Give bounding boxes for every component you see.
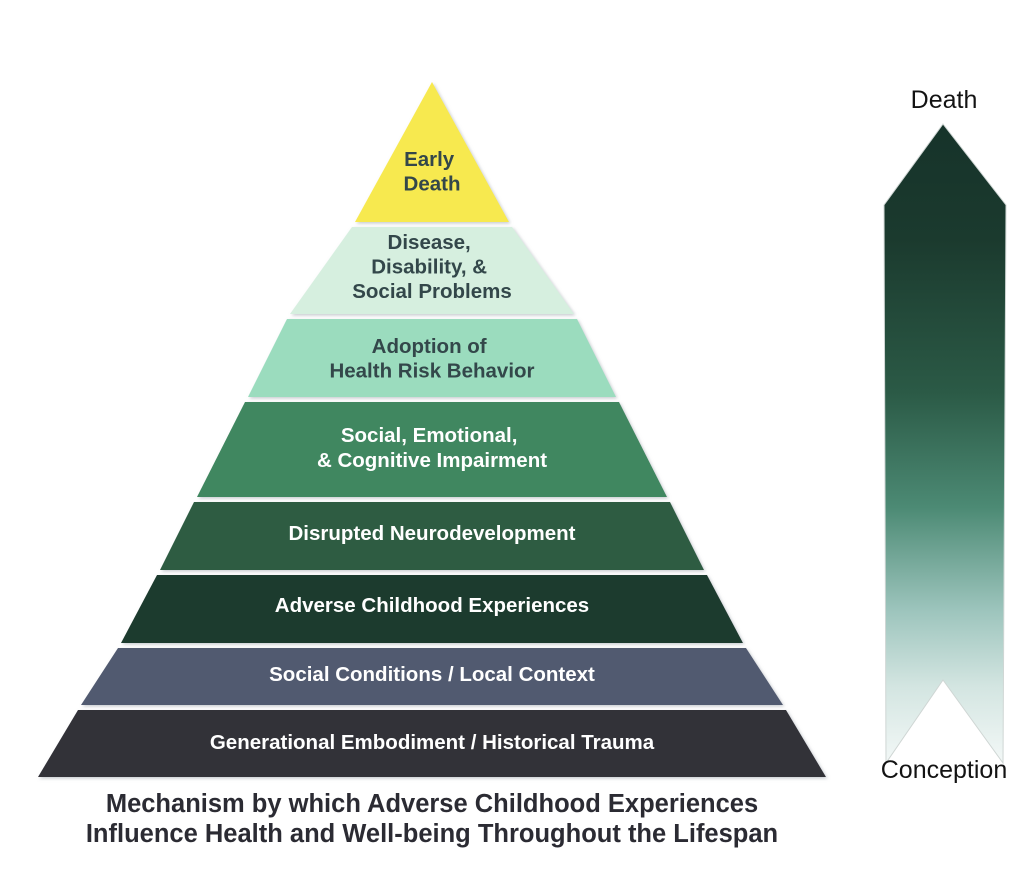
tier-line: Disrupted Neurodevelopment (288, 522, 575, 545)
tier-label-adverse-childhood-experiences: Adverse Childhood Experiences (275, 594, 589, 617)
tier-label-social-conditions-local-context: Social Conditions / Local Context (269, 663, 595, 686)
tier-line: Social, Emotional, (341, 424, 518, 447)
lifespan-arrow: Death Conception (881, 86, 1007, 784)
lifespan-arrow-bottom-label: Conception (881, 756, 1007, 784)
lifespan-arrow-shape (884, 124, 1006, 763)
tier-disrupted-neurodevelopment[interactable]: Disrupted Neurodevelopment (160, 502, 704, 570)
tier-line: Disability, & (371, 256, 487, 279)
tier-line: Adoption of (372, 335, 487, 358)
tier-label-early-death: Early Death (404, 148, 461, 196)
tier-line: Social Problems (352, 280, 512, 303)
tier-line: Disease, (388, 231, 471, 254)
ace-pyramid-figure: Early Death Disease, Disability, & Socia… (0, 0, 1024, 879)
tier-early-death[interactable]: Early Death (355, 82, 509, 222)
lifespan-arrow-top-label: Death (911, 86, 978, 114)
tier-line: Death (404, 173, 461, 196)
figure-caption: Mechanism by which Adverse Childhood Exp… (86, 790, 778, 848)
tier-adoption-of-health-risk-behavior[interactable]: Adoption of Health Risk Behavior (248, 319, 616, 397)
tier-disease-disability-social-problems[interactable]: Disease, Disability, & Social Problems (290, 227, 574, 314)
tier-social-conditions-local-context[interactable]: Social Conditions / Local Context (81, 648, 783, 705)
caption-line-2: Influence Health and Well-being Througho… (86, 820, 778, 848)
tier-social-emotional-cognitive-impairment[interactable]: Social, Emotional, & Cognitive Impairmen… (197, 402, 667, 497)
caption-line-1: Mechanism by which Adverse Childhood Exp… (106, 790, 758, 818)
tier-line: Adverse Childhood Experiences (275, 594, 589, 617)
tier-line: Generational Embodiment / Historical Tra… (210, 731, 655, 754)
tier-line: Health Risk Behavior (329, 360, 534, 383)
tier-label-disrupted-neurodevelopment: Disrupted Neurodevelopment (288, 522, 575, 545)
tier-line: Social Conditions / Local Context (269, 663, 595, 686)
tier-line: & Cognitive Impairment (317, 449, 547, 472)
tier-line: Early (404, 148, 455, 171)
tier-generational-embodiment-historical-trauma[interactable]: Generational Embodiment / Historical Tra… (38, 710, 826, 777)
tier-adverse-childhood-experiences[interactable]: Adverse Childhood Experiences (121, 575, 743, 643)
tier-label-generational-embodiment-historical-trauma: Generational Embodiment / Historical Tra… (210, 731, 655, 754)
pyramid-diagram: Early Death Disease, Disability, & Socia… (0, 0, 1024, 879)
